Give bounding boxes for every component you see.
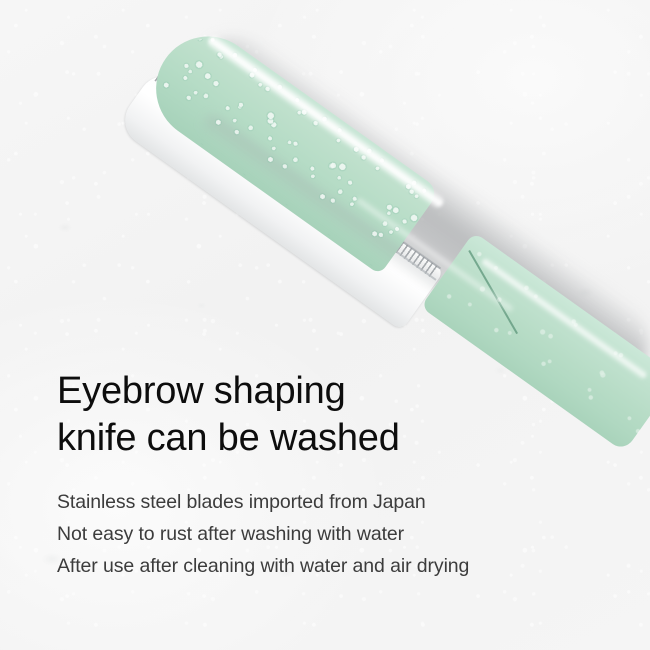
marketing-copy-block: Eyebrow shaping knife can be washed Stai…	[57, 368, 617, 582]
product-banner: Eyebrow shaping knife can be washed Stai…	[0, 0, 650, 650]
feature-item-rust: Not easy to rust after washing with wate…	[57, 518, 617, 550]
feature-item-blades: Stainless steel blades imported from Jap…	[57, 486, 617, 518]
feature-list: Stainless steel blades imported from Jap…	[57, 486, 617, 582]
feature-item-cleaning: After use after cleaning with water and …	[57, 550, 617, 582]
headline-line-1: Eyebrow shaping	[57, 368, 617, 415]
headline-line-2: knife can be washed	[57, 415, 617, 462]
